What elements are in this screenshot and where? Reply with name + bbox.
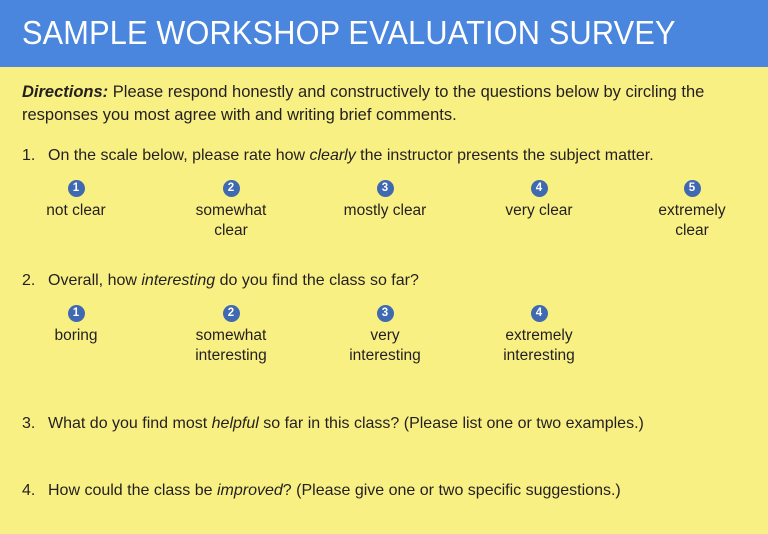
question-3-text-before: What do you find most <box>48 415 212 432</box>
question-4-number: 4. <box>22 480 48 502</box>
survey-body: Directions: Please respond honestly and … <box>0 67 768 534</box>
scale-option-3[interactable]: 3 mostly clear <box>310 180 460 221</box>
scale-bullet-icon: 4 <box>531 305 548 322</box>
survey-page: SAMPLE WORKSHOP EVALUATION SURVEY Direct… <box>0 0 768 534</box>
scale-bullet-icon: 3 <box>377 180 394 197</box>
scale-bullet-icon: 2 <box>223 180 240 197</box>
scale-option-3[interactable]: 3 very interesting <box>310 305 460 366</box>
question-1: 1.On the scale below, please rate how cl… <box>22 145 654 167</box>
question-3: 3.What do you find most helpful so far i… <box>22 413 644 435</box>
scale-option-1[interactable]: 1 boring <box>1 305 151 346</box>
question-1-text-after: the instructor presents the subject matt… <box>356 147 654 164</box>
question-4-emphasis: improved <box>217 482 283 499</box>
scale-option-label: boring <box>1 326 151 346</box>
scale-bullet-icon: 3 <box>377 305 394 322</box>
question-1-number: 1. <box>22 145 48 167</box>
scale-bullet-icon: 5 <box>684 180 701 197</box>
scale-option-1[interactable]: 1 not clear <box>1 180 151 221</box>
question-1-text-before: On the scale below, please rate how <box>48 147 310 164</box>
question-3-number: 3. <box>22 413 48 435</box>
question-1-emphasis: clearly <box>310 147 356 164</box>
question-2-emphasis: interesting <box>141 272 215 289</box>
scale-bullet-icon: 4 <box>531 180 548 197</box>
directions-text: Please respond honestly and constructive… <box>22 83 704 124</box>
scale-option-label: somewhat interesting <box>156 326 306 366</box>
scale-option-5[interactable]: 5 extremely clear <box>617 180 767 241</box>
scale-option-4[interactable]: 4 extremely interesting <box>464 305 614 366</box>
question-4: 4.How could the class be improved? (Plea… <box>22 480 621 502</box>
question-2-text-before: Overall, how <box>48 272 141 289</box>
scale-bullet-icon: 1 <box>68 180 85 197</box>
question-2-scale: 1 boring 2 somewhat interesting 3 very i… <box>0 305 768 385</box>
page-title: SAMPLE WORKSHOP EVALUATION SURVEY <box>22 13 676 53</box>
scale-option-2[interactable]: 2 somewhat interesting <box>156 305 306 366</box>
scale-bullet-icon: 2 <box>223 305 240 322</box>
scale-option-label: extremely interesting <box>464 326 614 366</box>
question-1-scale: 1 not clear 2 somewhat clear 3 mostly cl… <box>0 180 768 260</box>
directions-block: Directions: Please respond honestly and … <box>22 81 748 127</box>
question-3-emphasis: helpful <box>212 415 259 432</box>
scale-option-label: mostly clear <box>310 201 460 221</box>
scale-option-label: somewhat clear <box>156 201 306 241</box>
scale-option-label: not clear <box>1 201 151 221</box>
header-banner: SAMPLE WORKSHOP EVALUATION SURVEY <box>0 0 768 67</box>
question-3-text-after: so far in this class? (Please list one o… <box>259 415 644 432</box>
directions-label: Directions: <box>22 83 108 101</box>
question-2-number: 2. <box>22 270 48 292</box>
scale-option-label: extremely clear <box>617 201 767 241</box>
question-4-text-before: How could the class be <box>48 482 217 499</box>
question-2-text-after: do you find the class so far? <box>215 272 419 289</box>
scale-option-4[interactable]: 4 very clear <box>464 180 614 221</box>
question-2: 2.Overall, how interesting do you find t… <box>22 270 419 292</box>
scale-option-2[interactable]: 2 somewhat clear <box>156 180 306 241</box>
scale-option-label: very interesting <box>310 326 460 366</box>
scale-bullet-icon: 1 <box>68 305 85 322</box>
question-4-text-after: ? (Please give one or two specific sugge… <box>283 482 621 499</box>
scale-option-label: very clear <box>464 201 614 221</box>
